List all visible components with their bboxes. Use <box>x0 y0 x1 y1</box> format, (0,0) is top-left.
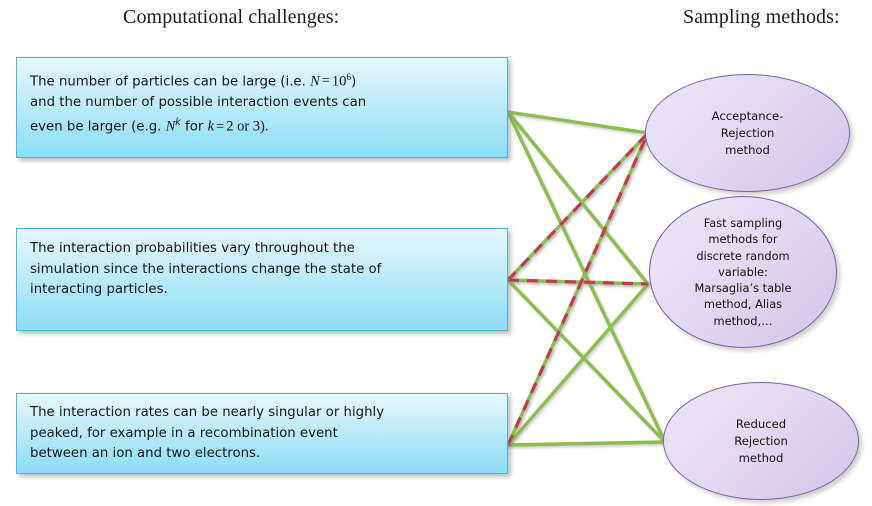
challenge-1-equals: = <box>320 73 332 89</box>
challenge-1-line-1-text-b: ) <box>351 74 356 89</box>
method-3-line-1: Reduced <box>734 416 788 433</box>
method-2-line-5: Marsaglia’s table <box>695 280 792 296</box>
solid-link-group <box>508 112 665 445</box>
challenge-1-line-3-text-a: even be larger (e.g. <box>30 120 166 135</box>
challenge-2-line-2: simulation since the interactions change… <box>30 260 495 281</box>
method-3-line-2: Rejection <box>734 433 788 450</box>
challenge-1-symbol-N2: N <box>166 119 176 135</box>
method-3-label: Reduced Rejection method <box>724 416 798 467</box>
method-2-line-4: variable: <box>695 264 792 280</box>
challenge-1-base-10: 10 <box>332 73 347 89</box>
challenge-1-line-3: even be larger (e.g. Nk for k=2 or 3). <box>30 113 495 138</box>
method-3-line-3: method <box>734 450 788 467</box>
challenge-1-line-3-text-b: 2 or 3). <box>226 119 268 135</box>
challenge-1-symbol-N: N <box>310 73 320 89</box>
challenge-2-line-3: interacting particles. <box>30 280 495 301</box>
challenge-1-line-3-mid: for <box>181 120 208 135</box>
challenge-1-line-1: The number of particles can be large (i.… <box>30 68 495 93</box>
challenge-box-varying-probabilities[interactable]: The interaction probabilities vary throu… <box>16 228 508 331</box>
method-1-line-1: Acceptance- <box>712 108 784 125</box>
challenge-2-line-1: The interaction probabilities vary throu… <box>30 239 495 260</box>
method-ellipse-reduced-rejection[interactable]: Reduced Rejection method <box>663 382 859 500</box>
method-2-line-6: method, Alias <box>695 296 792 312</box>
challenge-3-line-1: The interaction rates can be nearly sing… <box>30 403 495 424</box>
method-2-line-3: discrete random <box>695 248 792 264</box>
challenge-box-singular-rates[interactable]: The interaction rates can be nearly sing… <box>16 393 508 474</box>
method-2-label: Fast sampling methods for discrete rando… <box>685 215 802 329</box>
method-2-line-7: method,… <box>695 313 792 329</box>
challenge-1-line-1-text-a: The number of particles can be large (i.… <box>30 74 310 89</box>
method-2-line-1: Fast sampling <box>695 215 792 231</box>
link-solid-challenge-1-to-method-1 <box>508 112 648 133</box>
diagram-canvas: Computational challenges: Sampling metho… <box>0 0 872 506</box>
method-1-line-3: method <box>712 142 784 159</box>
method-1-line-2: Rejection <box>712 125 784 142</box>
challenge-1-line-2: and the number of possible interaction e… <box>30 93 495 114</box>
challenge-box-particles-count[interactable]: The number of particles can be large (i.… <box>16 57 508 158</box>
method-ellipse-acceptance-rejection[interactable]: Acceptance- Rejection method <box>645 74 850 192</box>
method-ellipse-fast-sampling-discrete[interactable]: Fast sampling methods for discrete rando… <box>649 196 837 348</box>
challenge-3-line-2: peaked, for example in a recombination e… <box>30 424 495 445</box>
method-2-line-2: methods for <box>695 231 792 247</box>
challenge-1-equals-2: = <box>214 119 226 135</box>
method-1-label: Acceptance- Rejection method <box>702 108 794 159</box>
challenge-3-line-3: between an ion and two electrons. <box>30 444 495 465</box>
link-solid-challenge-3-to-method-3 <box>508 442 665 445</box>
